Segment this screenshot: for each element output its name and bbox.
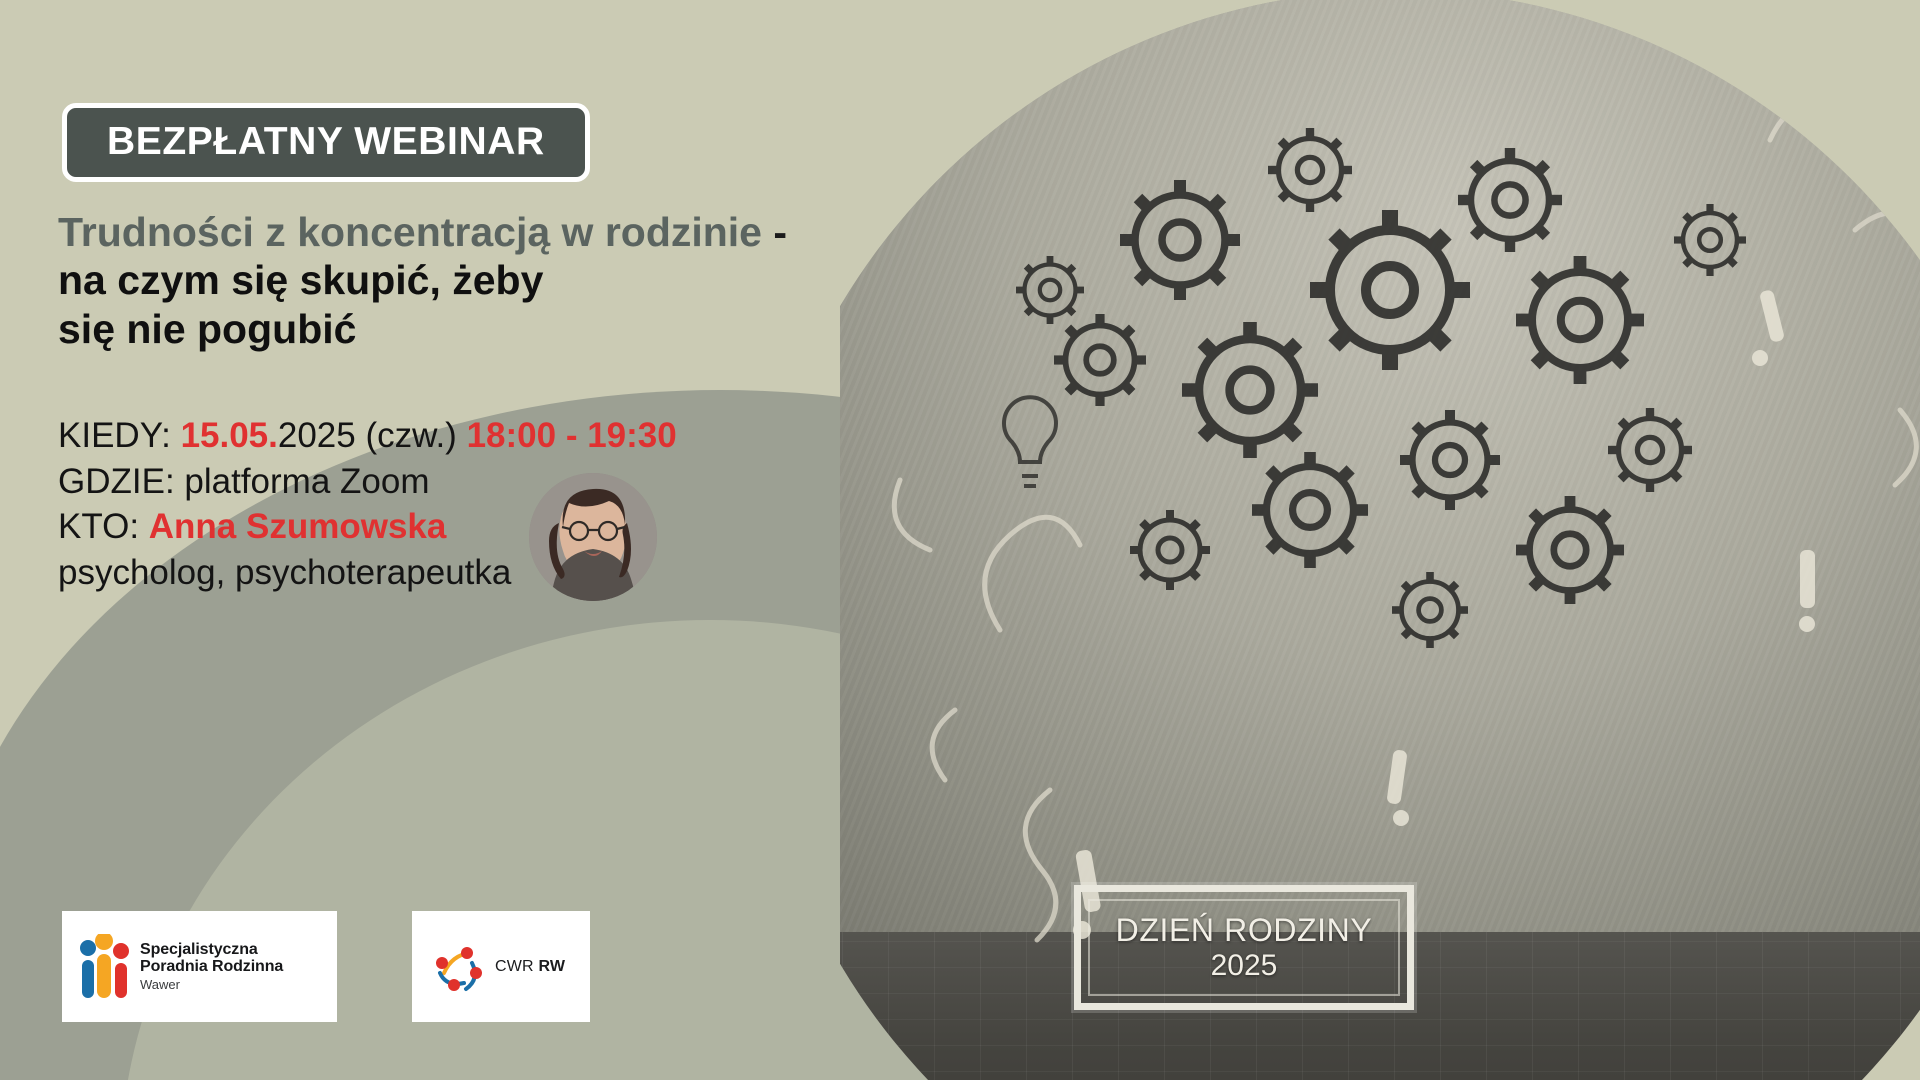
avatar [529,473,657,601]
logo-cwr-rw[interactable]: CWR RW [412,911,590,1022]
when-date-highlight: 15.05. [181,416,278,455]
avatar-portrait [529,473,657,601]
event-details: KIEDY: 15.05.2025 (czw.) 18:00 - 19:30 G… [58,413,878,595]
who-name: Anna Szumowska [149,507,447,546]
detail-row-when: KIEDY: 15.05.2025 (czw.) 18:00 - 19:30 [58,413,878,459]
logo-spr-line3: Wawer [140,978,283,992]
title-line-1: Trudności z koncentracją w rodzinie - [58,208,918,256]
logo-spr-line1: Specjalistyczna [140,942,283,959]
when-time: 18:00 - 19:30 [467,416,677,455]
webinar-poster: BEZPŁATNY WEBINAR Trudności z koncentrac… [0,0,1920,1080]
when-date-rest: 2025 (czw.) [278,416,467,455]
logo-cwr-text-bold: RW [538,958,565,975]
detail-row-who: KTO: Anna Szumowska [58,504,878,550]
title-line-1-dash: - [762,209,787,255]
dzien-rodziny-plaque: DZIEŃ RODZINY 2025 [1074,885,1414,1010]
detail-row-where: GDZIE: platforma Zoom [58,459,878,505]
page-title: Trudności z koncentracją w rodzinie - na… [58,208,918,353]
logo-spr-line2: Poradnia Rodzinna [140,959,283,976]
logo-specjalistyczna-poradnia-rodzinna[interactable]: Specjalistyczna Poradnia Rodzinna Wawer [62,911,337,1022]
badge-label: BEZPŁATNY WEBINAR [107,120,545,163]
who-label: KTO: [58,507,149,546]
title-line-1-text: Trudności z koncentracją w rodzinie [58,209,762,255]
title-line-3: się nie pogubić [58,305,918,353]
free-webinar-badge: BEZPŁATNY WEBINAR [62,103,590,182]
logo-cwr-text-light: CWR [495,958,538,975]
where-value: platforma Zoom [184,462,429,501]
cwr-people-swirl-icon [430,939,486,995]
title-line-2: na czym się skupić, żeby [58,256,918,304]
people-figures-icon [78,934,130,1000]
who-role: psycholog, psychoterapeutka [58,550,878,596]
when-label: KIEDY: [58,416,181,455]
plaque-line-2: 2025 [1211,949,1278,983]
plaque-line-1: DZIEŃ RODZINY [1116,913,1373,949]
where-label: GDZIE: [58,462,184,501]
